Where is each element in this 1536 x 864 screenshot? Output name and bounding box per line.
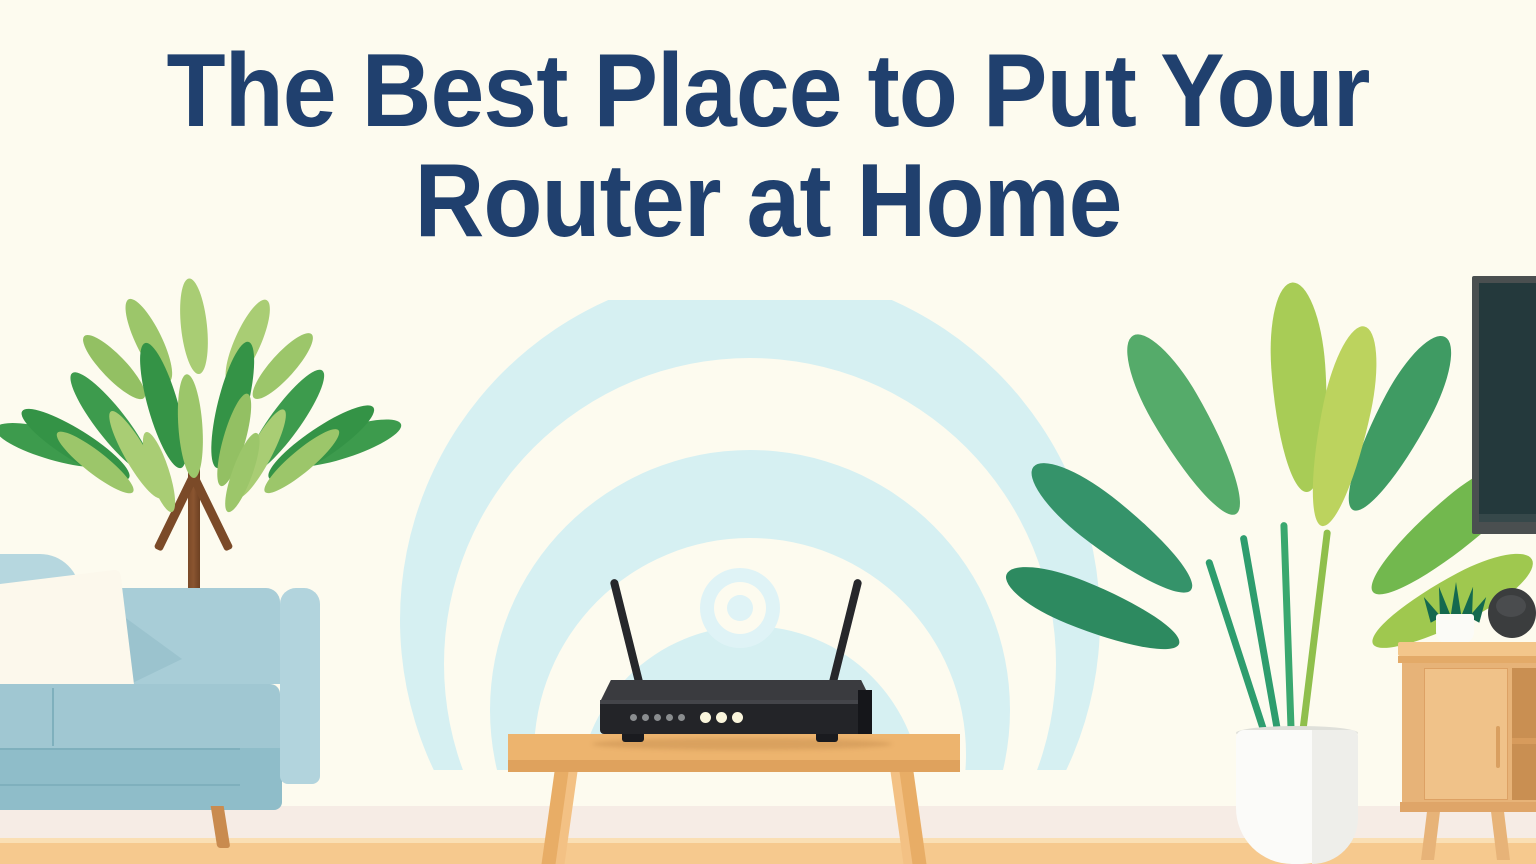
plant-pot-shade <box>1312 730 1358 864</box>
wall-mounted-tv <box>1472 276 1536 534</box>
router-led-small <box>678 714 685 721</box>
router-antenna-left <box>610 578 644 687</box>
cabinet-top <box>1398 642 1536 656</box>
table-top-edge <box>508 760 960 772</box>
router-top-panel <box>600 680 872 702</box>
router-antenna-right <box>828 578 862 687</box>
router-led-small <box>642 714 649 721</box>
router-foot-right <box>816 734 838 742</box>
blue-sofa <box>0 588 320 864</box>
potted-leafy-plant <box>1152 282 1428 864</box>
sofa-base <box>0 748 282 810</box>
router-front-highlight <box>600 700 872 704</box>
cabinet-open-shelf-front <box>1512 668 1536 800</box>
sofa-leg <box>211 806 231 848</box>
small-succulent-plant <box>1422 578 1486 644</box>
succulent-pot <box>1436 614 1474 644</box>
tv-screen <box>1479 283 1536 519</box>
router-foot-left <box>622 734 644 742</box>
router-led-small <box>630 714 637 721</box>
wireless-router <box>600 572 872 744</box>
cabinet-shelf-divider <box>1512 738 1536 744</box>
tv-screen-stripe <box>1479 514 1536 522</box>
sofa-seat <box>0 684 280 754</box>
cabinet-plinth <box>1400 802 1536 812</box>
cabinet-leg-right <box>1491 812 1510 860</box>
router-led-large <box>716 712 727 723</box>
router-side-panel <box>858 690 872 734</box>
router-led-small <box>654 714 661 721</box>
cabinet-door-handle <box>1496 726 1500 768</box>
wooden-coffee-table <box>508 734 960 864</box>
wooden-sideboard-cabinet <box>1398 642 1536 864</box>
page-title: The Best Place to Put Your Router at Hom… <box>54 36 1482 256</box>
cabinet-leg-left <box>1421 812 1440 860</box>
router-led-large <box>732 712 743 723</box>
router-led-small <box>666 714 673 721</box>
illustration-canvas: The Best Place to Put Your Router at Hom… <box>0 0 1536 864</box>
router-led-large <box>700 712 711 723</box>
cabinet-top-edge <box>1398 656 1536 663</box>
sofa-armrest <box>280 588 320 784</box>
router-led-row <box>630 712 743 723</box>
round-speaker-highlight <box>1496 595 1526 617</box>
